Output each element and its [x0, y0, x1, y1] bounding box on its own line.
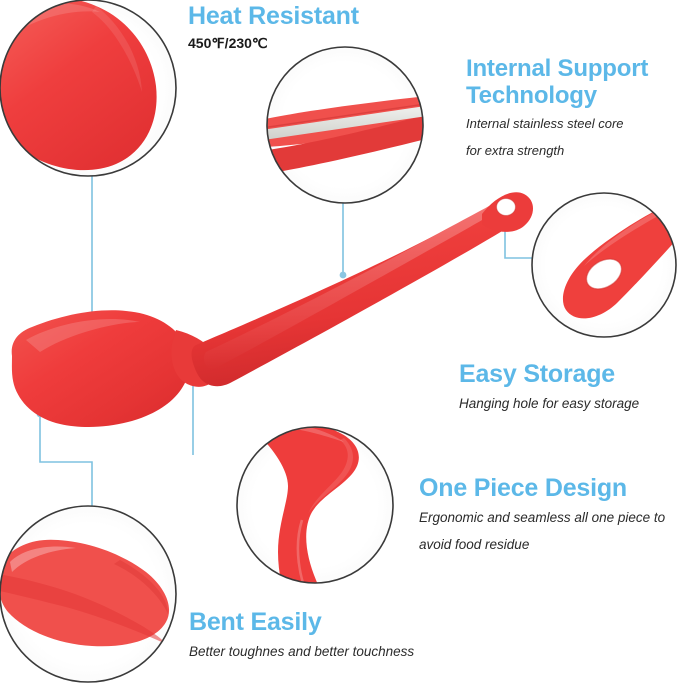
detail-circle-internal-support	[250, 47, 476, 203]
infographic-canvas: Heat Resistant 450℉/230℃ Internal Suppor…	[0, 0, 679, 686]
feature-sub-easy-storage-line1: Hanging hole for easy storage	[459, 391, 639, 417]
feature-spec-temperature: 450℉/230℃	[188, 34, 359, 52]
feature-heat-resistant: Heat Resistant 450℉/230℃	[188, 2, 359, 52]
spatula-blade	[12, 310, 191, 427]
spatula-handle-highlight	[204, 200, 512, 370]
detail-circle-one-piece	[237, 414, 393, 628]
feature-easy-storage: Easy Storage Hanging hole for easy stora…	[459, 360, 639, 417]
feature-sub-one-piece-line2: avoid food residue	[419, 532, 677, 557]
main-spatula	[12, 192, 533, 427]
feature-title-bent-easily: Bent Easily	[189, 608, 414, 637]
feature-bent-easily: Bent Easily Better toughnes and better t…	[189, 608, 414, 665]
feature-one-piece-design: One Piece Design Ergonomic and seamless …	[419, 474, 677, 557]
spatula-handle	[192, 194, 529, 387]
feature-sub-bent-easily-line1: Better toughnes and better touchness	[189, 639, 414, 665]
detail-circle-bent-easily	[0, 506, 176, 682]
feature-title-easy-storage: Easy Storage	[459, 360, 639, 389]
dot-internal-support	[340, 272, 347, 279]
feature-sub-internal-support-line2: for extra strength	[466, 138, 679, 163]
feature-title-heat-resistant: Heat Resistant	[188, 2, 359, 31]
feature-sub-internal-support-line1: Internal stainless steel core	[466, 111, 679, 136]
detail-circle-easy-storage	[532, 193, 679, 337]
feature-sub-one-piece-line1: Ergonomic and seamless all one piece to	[419, 505, 677, 530]
feature-title-internal-support: Internal Support Technology	[466, 55, 679, 109]
connector-bent-easily	[40, 414, 92, 506]
detail-circle-heat-resistant	[0, 0, 176, 176]
feature-title-one-piece-design: One Piece Design	[419, 474, 677, 503]
feature-internal-support: Internal Support Technology Internal sta…	[466, 55, 679, 163]
